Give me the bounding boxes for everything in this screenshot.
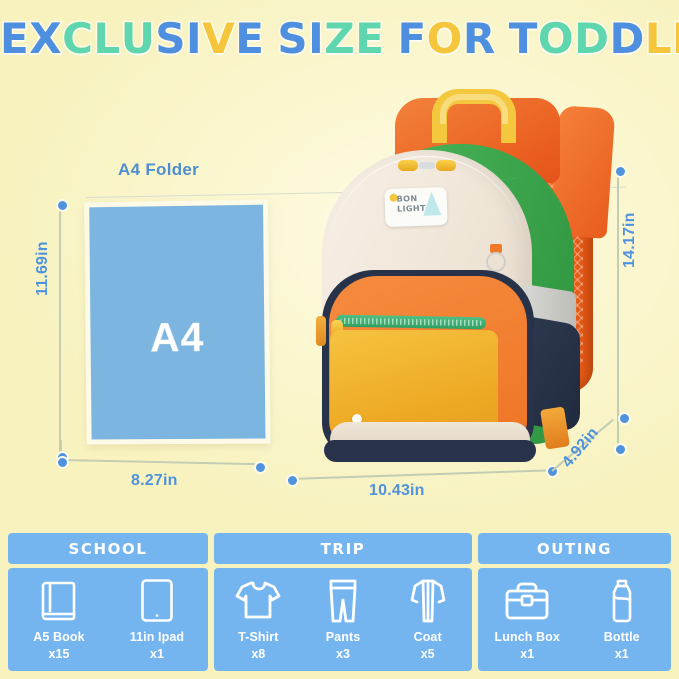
infographic-stage: EXCLUSIVE SIZE FOR TODDLERS A4 Folder A4… xyxy=(0,0,679,679)
title-letter-19: T xyxy=(509,18,538,60)
backpack-depth-dot xyxy=(618,412,631,425)
capacity-header-school: SCHOOL xyxy=(8,533,208,564)
capacity-item-name: T-Shirt xyxy=(238,631,278,644)
capacity-item-name: A5 Book xyxy=(33,631,84,644)
capacity-item-qty: x8 xyxy=(251,648,265,661)
clip-buckle xyxy=(419,162,435,169)
title-letter-17: R xyxy=(463,18,496,60)
capacity-item: Bottlex1 xyxy=(579,577,665,661)
capacity-item-qty: x3 xyxy=(336,648,350,661)
capacity-items: T-Shirtx8Pantsx3Coatx5 xyxy=(214,568,472,671)
folder-height-label: 11.69in xyxy=(34,241,52,296)
a4-folder-sheet-text: A4 xyxy=(90,313,264,362)
title-letter-21: D xyxy=(574,18,609,60)
capacity-item-qty: x5 xyxy=(421,648,435,661)
folder-width-dot-right xyxy=(254,461,267,474)
capacity-item-name: Bottle xyxy=(604,631,640,644)
title-letter-10: S xyxy=(277,18,308,60)
title-space xyxy=(496,18,509,60)
title-space xyxy=(384,18,397,60)
title-letter-23: L xyxy=(645,18,672,60)
title-space xyxy=(264,18,277,60)
title-letter-8: E xyxy=(235,18,264,60)
capacity-item-qty: x1 xyxy=(520,648,534,661)
backpack-top-clips xyxy=(398,160,458,172)
title-letter-11: I xyxy=(308,18,324,60)
tablet-icon xyxy=(140,577,174,625)
backpack-handle-highlight xyxy=(440,94,508,124)
a4-folder-sheet: A4 xyxy=(84,200,270,445)
title-letter-2: C xyxy=(62,18,93,60)
title-letter-16: O xyxy=(427,18,463,60)
book-icon xyxy=(39,577,79,625)
backpack-bottom-trim xyxy=(324,440,536,462)
title-letter-0: E xyxy=(0,18,29,60)
capacity-item: A5 Bookx15 xyxy=(16,577,102,661)
clip-right xyxy=(436,160,456,171)
capacity-item-qty: x15 xyxy=(49,648,70,661)
backpack-height-line xyxy=(617,170,619,447)
capacity-items: Lunch Boxx1Bottlex1 xyxy=(478,568,671,671)
backpack-height-dot-top xyxy=(614,165,627,178)
backpack-width-label: 10.43in xyxy=(369,482,425,500)
capacity-header-trip: TRIP xyxy=(214,533,472,564)
capacity-item-name: Lunch Box xyxy=(494,631,559,644)
title-letter-1: X xyxy=(29,18,62,60)
bottle-icon xyxy=(608,577,636,625)
capacity-column-school: SCHOOLA5 Bookx1511in Ipadx1 xyxy=(8,533,208,671)
title-letter-6: I xyxy=(186,18,202,60)
capacity-header-outing: OUTING xyxy=(478,533,671,564)
folder-height-dot-top xyxy=(56,199,69,212)
folder-width-dot-left xyxy=(56,456,69,469)
title-letter-20: O xyxy=(538,18,574,60)
capacity-item-name: Coat xyxy=(414,631,442,644)
title-letter-13: E xyxy=(355,18,384,60)
folder-width-line xyxy=(60,459,260,465)
backpack-logo-patch: BON LIGHT xyxy=(384,187,447,227)
backpack-d-ring xyxy=(486,252,506,272)
folder-width-label: 8.27in xyxy=(131,472,178,490)
backpack-width-line xyxy=(290,469,550,479)
title-letter-12: Z xyxy=(324,18,355,60)
backpack-width-dot-left xyxy=(286,474,299,487)
capacity-item-qty: x1 xyxy=(150,648,164,661)
title-letter-15: F xyxy=(397,18,426,60)
capacity-column-trip: TRIPT-Shirtx8Pantsx3Coatx5 xyxy=(214,533,472,671)
backpack-height-label: 14.17in xyxy=(621,212,639,268)
capacity-items: A5 Bookx1511in Ipadx1 xyxy=(8,568,208,671)
capacity-column-outing: OUTINGLunch Boxx1Bottlex1 xyxy=(478,533,671,671)
title-letter-24: E xyxy=(672,18,679,60)
title-letter-5: S xyxy=(155,18,186,60)
a4-folder-label: A4 Folder xyxy=(118,160,199,180)
title-letter-4: U xyxy=(121,18,156,60)
patch-text: BON LIGHT xyxy=(397,193,442,215)
capacity-item: Pantsx3 xyxy=(301,577,386,661)
folder-height-line xyxy=(59,204,61,454)
backpack-left-clip xyxy=(316,316,326,346)
tshirt-icon xyxy=(234,577,282,625)
capacity-item: Lunch Boxx1 xyxy=(484,577,570,661)
capacity-item-qty: x1 xyxy=(615,648,629,661)
title-letter-22: D xyxy=(609,18,644,60)
capacity-item: T-Shirtx8 xyxy=(216,577,301,661)
pants-icon xyxy=(326,577,360,625)
capacity-item-name: Pants xyxy=(326,631,361,644)
title-letter-3: L xyxy=(93,18,120,60)
capacity-item: 11in Ipadx1 xyxy=(114,577,200,661)
capacity-item-name: 11in Ipad xyxy=(130,631,184,644)
backpack-illustration: BON LIGHT xyxy=(300,92,610,464)
lunchbox-icon xyxy=(504,577,550,625)
title-letter-7: V xyxy=(202,18,235,60)
page-title: EXCLUSIVE SIZE FOR TODDLERS xyxy=(0,18,679,60)
backpack-height-dot-bottom xyxy=(614,443,627,456)
capacity-item: Coatx5 xyxy=(385,577,470,661)
clip-left xyxy=(398,160,418,171)
coat-icon xyxy=(409,577,447,625)
capacity-table: SCHOOLA5 Bookx1511in Ipadx1TRIPT-Shirtx8… xyxy=(8,533,671,671)
patch-line-2: LIGHT xyxy=(397,203,441,215)
